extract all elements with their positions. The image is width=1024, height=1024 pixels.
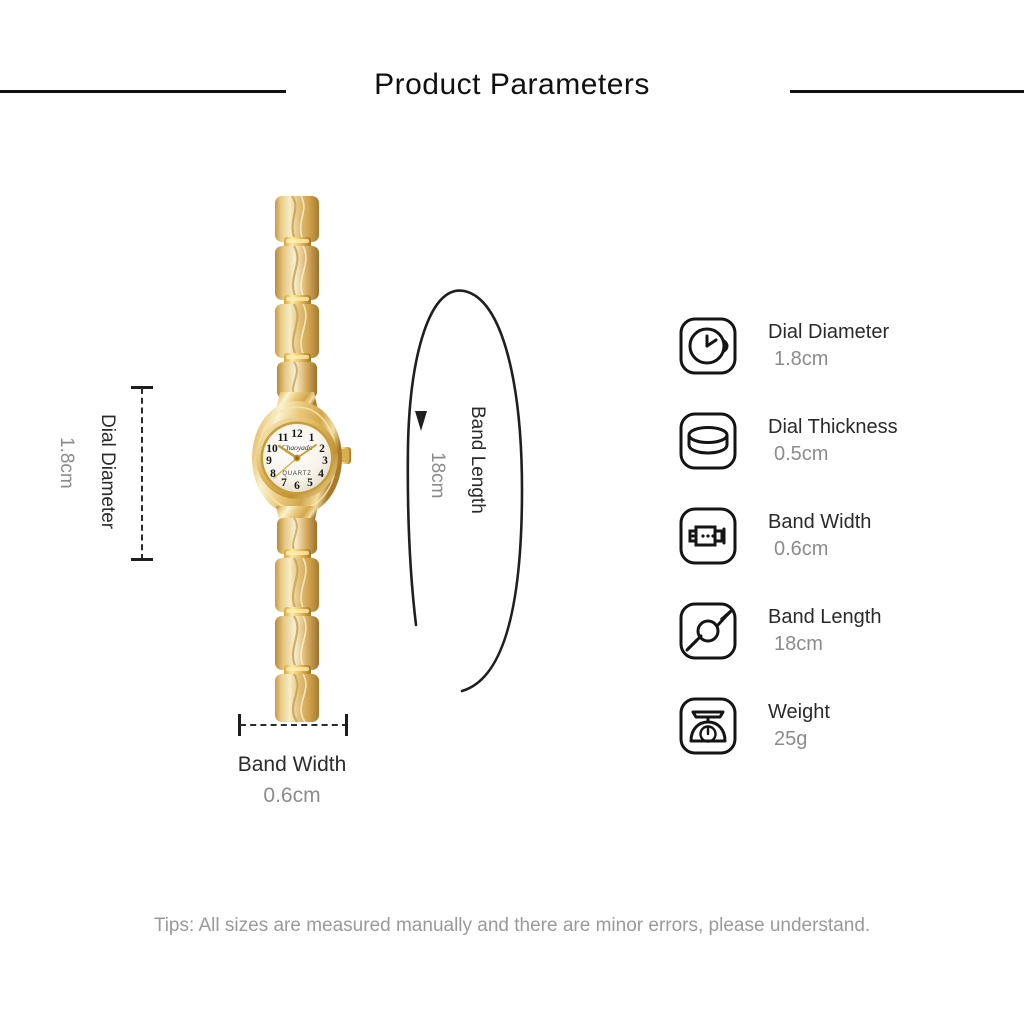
dial-diameter-cap-bottom [131, 558, 153, 561]
band-length-loop-arrow [398, 285, 528, 695]
spec-row-dial-thickness: Dial Thickness 0.5cm [676, 393, 1006, 488]
watch-case: 12 1 2 3 4 5 6 7 8 9 10 11 Chaoyada QUAR… [252, 392, 351, 524]
spec-list: Dial Diameter 1.8cm Dial Thickness 0.5cm [676, 298, 1006, 773]
svg-text:6: 6 [294, 480, 300, 492]
svg-text:10: 10 [266, 443, 278, 455]
kitchen-scale-icon [676, 695, 742, 757]
svg-text:9: 9 [266, 455, 272, 467]
svg-text:2: 2 [319, 443, 325, 455]
spec-row-weight: Weight 25g [676, 678, 1006, 773]
spec-row-band-width: Band Width 0.6cm [676, 488, 1006, 583]
svg-text:12: 12 [291, 428, 303, 440]
svg-text:4: 4 [318, 468, 324, 480]
band-width-dimension-line [240, 724, 348, 726]
svg-text:3: 3 [322, 455, 328, 467]
dial-diameter-dimension-line [141, 388, 143, 560]
spec-label: Band Length [768, 604, 881, 631]
spec-label: Dial Diameter [768, 319, 889, 346]
dial-diameter-callout-value: 1.8cm [55, 437, 77, 489]
svg-text:5: 5 [307, 477, 313, 489]
svg-text:8: 8 [270, 468, 276, 480]
spec-value: 18cm [768, 631, 881, 658]
band-width-callout-value: 0.6cm [190, 784, 394, 808]
spec-value: 0.5cm [768, 441, 898, 468]
spec-text-band-length: Band Length 18cm [768, 604, 881, 658]
spec-value: 0.6cm [768, 536, 871, 563]
dial-movement-text: QUARTZ [282, 471, 311, 477]
spec-value: 1.8cm [768, 346, 889, 373]
spec-text-weight: Weight 25g [768, 699, 830, 753]
watch-dial-icon [676, 315, 742, 377]
band-length-callout-label: Band Length [466, 406, 488, 514]
spec-text-band-width: Band Width 0.6cm [768, 509, 871, 563]
band-length-callout-value: 18cm [426, 452, 448, 498]
product-photo-watch: 12 1 2 3 4 5 6 7 8 9 10 11 Chaoyada QUAR… [222, 196, 372, 726]
watch-band-side-icon [676, 505, 742, 567]
spec-label: Weight [768, 699, 830, 726]
spec-label: Dial Thickness [768, 414, 898, 441]
spec-row-dial-diameter: Dial Diameter 1.8cm [676, 298, 1006, 393]
cylinder-puck-icon [676, 410, 742, 472]
footer-tip-text: Tips: All sizes are measured manually an… [0, 915, 1024, 937]
dial-diameter-callout-label: Dial Diameter [96, 414, 118, 529]
band-width-cap-right [345, 714, 348, 736]
product-parameters-page: Product Parameters [0, 0, 1024, 1024]
spec-value: 25g [768, 726, 830, 753]
spec-text-dial-diameter: Dial Diameter 1.8cm [768, 319, 889, 373]
svg-text:7: 7 [281, 477, 287, 489]
spec-row-band-length: Band Length 18cm [676, 583, 1006, 678]
spec-label: Band Width [768, 509, 871, 536]
band-width-callout-label: Band Width [190, 753, 394, 777]
watch-diagonal-icon [676, 600, 742, 662]
page-title: Product Parameters [0, 68, 1024, 102]
spec-text-dial-thickness: Dial Thickness 0.5cm [768, 414, 898, 468]
bracelet-lower [275, 518, 319, 722]
bracelet-upper [275, 196, 319, 398]
